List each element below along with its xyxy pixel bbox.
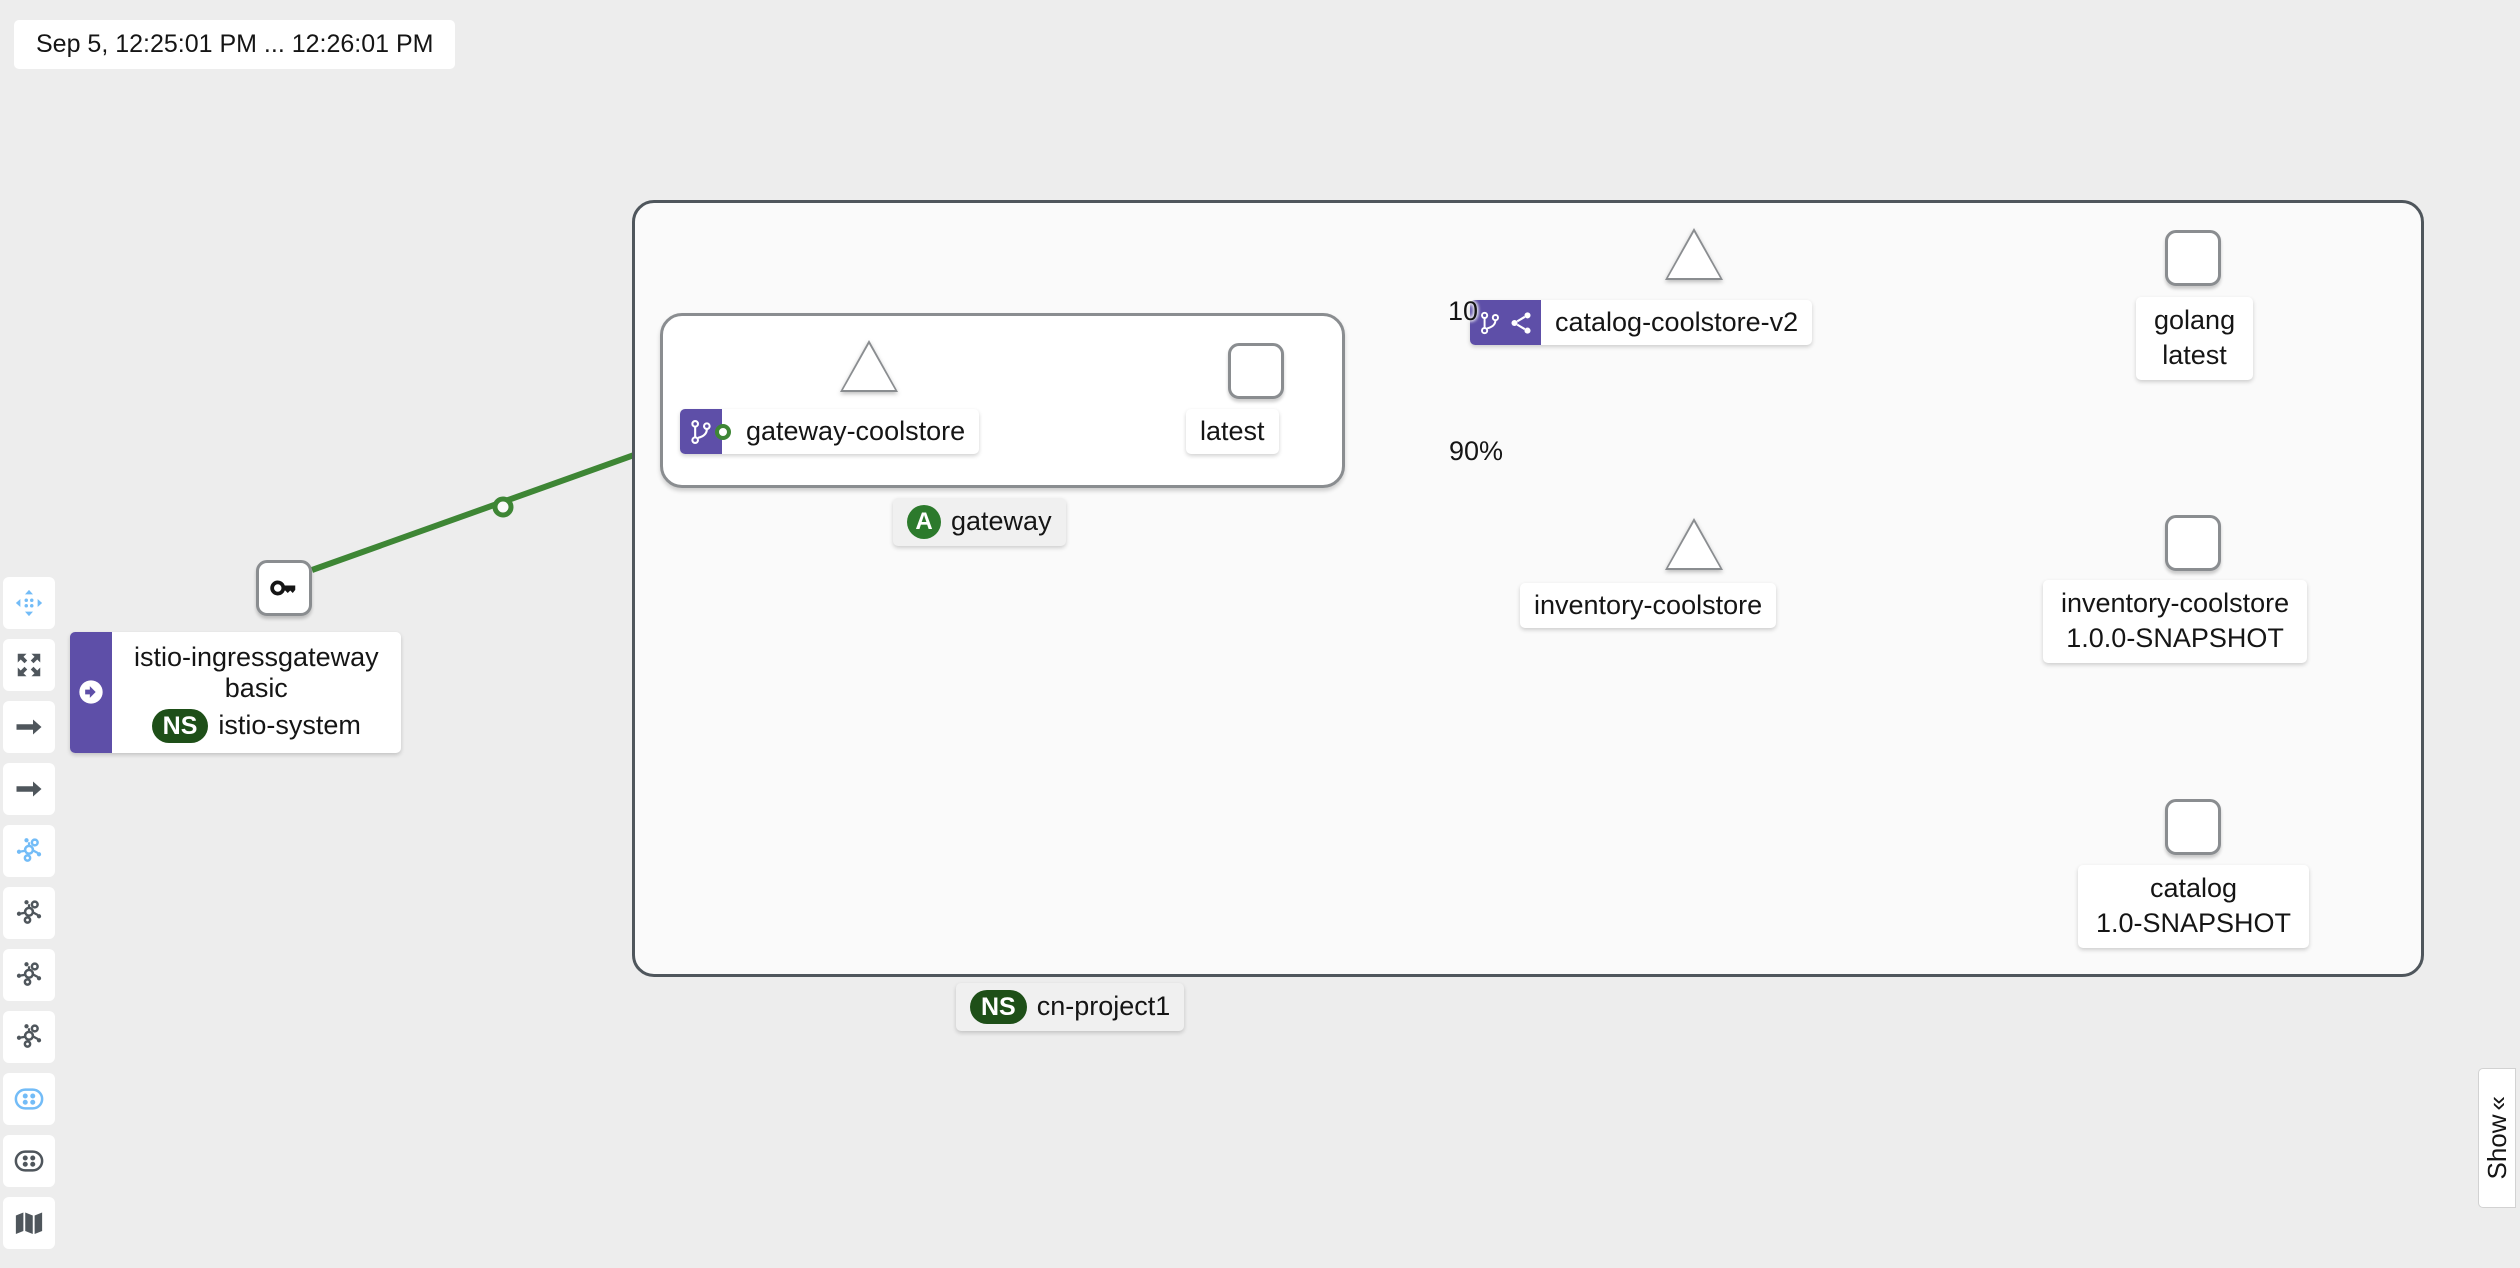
ingress-label-line1: istio-ingressgateway xyxy=(134,642,379,673)
node-shape-rect xyxy=(1228,343,1284,399)
expand-fullscreen-icon xyxy=(14,650,44,680)
namespace-name: cn-project1 xyxy=(1037,991,1171,1022)
catalog-coolstore-v2-name: catalog-coolstore-v2 xyxy=(1541,300,1812,345)
chevron-left-double-icon: « xyxy=(2482,1096,2513,1110)
node-label-catalog-coolstore-v2[interactable]: catalog-coolstore-v2 xyxy=(1470,300,1812,345)
app-group-label-gateway[interactable]: A gateway xyxy=(893,498,1066,546)
node-gateway-coolstore[interactable] xyxy=(840,340,898,392)
gateway-coolstore-name: gateway-coolstore xyxy=(722,409,979,454)
node-istio-ingressgateway[interactable] xyxy=(256,560,312,616)
ingress-ns-badge: NS xyxy=(152,709,209,743)
drag-pan-icon xyxy=(14,588,44,618)
catalog-snapshot-version: 1.0-SNAPSHOT xyxy=(2078,908,2309,947)
arrow-circle-right-icon xyxy=(77,678,105,706)
time-range-label: Sep 5, 12:25:01 PM ... 12:26:01 PM xyxy=(36,30,433,58)
show-drawer-content: Show « xyxy=(2482,1096,2513,1180)
node-inventory-coolstore[interactable] xyxy=(1665,518,1723,570)
gateway-latest-name: latest xyxy=(1186,409,1279,454)
catalog-snapshot-name: catalog xyxy=(2132,865,2255,908)
zoom-in-button[interactable] xyxy=(3,701,55,753)
inventory-snapshot-name: inventory-coolstore xyxy=(2043,580,2307,623)
node-shape-rect xyxy=(2165,515,2221,571)
show-label: Show xyxy=(2482,1115,2513,1180)
graph-layout-4-button[interactable] xyxy=(3,1011,55,1063)
gateway-coolstore-badges xyxy=(680,409,722,454)
graph-layout-4-icon xyxy=(14,1022,44,1052)
ingress-badge xyxy=(70,632,112,753)
arrow-right-icon xyxy=(14,712,44,742)
share-icon xyxy=(1508,310,1534,336)
namespace-layout-2-icon xyxy=(14,1146,44,1176)
kiali-graph-page: Sep 5, 12:25:01 PM ... 12:26:01 PM xyxy=(0,0,2520,1268)
app-box-gateway[interactable] xyxy=(660,313,1345,488)
legend-map-icon xyxy=(14,1208,44,1238)
show-side-panel-button[interactable]: Show « xyxy=(2478,1068,2516,1208)
node-label-golang-latest[interactable]: golang latest xyxy=(2136,297,2253,380)
namespace-layout-2-button[interactable] xyxy=(3,1135,55,1187)
graph-layout-1-icon xyxy=(14,836,44,866)
fit-to-screen-button[interactable] xyxy=(3,639,55,691)
graph-toolbar xyxy=(3,577,55,1259)
app-badge: A xyxy=(907,505,941,539)
namespace-layout-1-button[interactable] xyxy=(3,1073,55,1125)
arrow-right-alt-icon xyxy=(14,774,44,804)
catalog-coolstore-v2-badges xyxy=(1470,300,1541,345)
edge-endpoint-dot xyxy=(715,424,731,440)
graph-layout-2-icon xyxy=(14,898,44,928)
node-label-gateway-coolstore[interactable]: gateway-coolstore xyxy=(680,409,979,454)
graph-layout-3-button[interactable] xyxy=(3,949,55,1001)
edge-label-inventory-percent: 90% xyxy=(1449,436,1503,467)
node-catalog-snapshot[interactable] xyxy=(2165,799,2221,855)
graph-layout-2-button[interactable] xyxy=(3,887,55,939)
legend-button[interactable] xyxy=(3,1197,55,1249)
inventory-coolstore-name: inventory-coolstore xyxy=(1520,583,1776,628)
ingress-label-line2: basic xyxy=(134,673,379,704)
node-label-inventory-coolstore[interactable]: inventory-coolstore xyxy=(1520,583,1776,628)
golang-name: golang xyxy=(2136,297,2253,340)
node-shape-rect xyxy=(2165,230,2221,286)
namespace-badge: NS xyxy=(970,990,1027,1024)
key-icon xyxy=(269,573,299,603)
node-label-inventory-snapshot[interactable]: inventory-coolstore 1.0.0-SNAPSHOT xyxy=(2043,580,2307,663)
graph-layout-1-button[interactable] xyxy=(3,825,55,877)
node-golang-latest[interactable] xyxy=(2165,230,2221,286)
workload-icon xyxy=(687,418,715,446)
inventory-snapshot-version: 1.0.0-SNAPSHOT xyxy=(2048,623,2302,662)
node-catalog-coolstore-v2[interactable] xyxy=(1665,228,1723,280)
namespace-label-cn-project1[interactable]: NS cn-project1 xyxy=(956,983,1184,1031)
node-label-catalog-snapshot[interactable]: catalog 1.0-SNAPSHOT xyxy=(2078,865,2309,948)
node-shape-triangle xyxy=(1668,232,1720,278)
node-inventory-snapshot[interactable] xyxy=(2165,515,2221,571)
zoom-out-button[interactable] xyxy=(3,763,55,815)
graph-layout-3-icon xyxy=(14,960,44,990)
node-gateway-latest[interactable] xyxy=(1228,343,1284,399)
ingress-ns-name: istio-system xyxy=(218,710,361,741)
node-shape-rect xyxy=(2165,799,2221,855)
time-range-chip[interactable]: Sep 5, 12:25:01 PM ... 12:26:01 PM xyxy=(14,20,455,69)
node-shape-rect xyxy=(256,560,312,616)
drag-pan-button[interactable] xyxy=(3,577,55,629)
namespace-layout-1-icon xyxy=(14,1084,44,1114)
golang-version: latest xyxy=(2144,340,2245,379)
node-shape-triangle xyxy=(1668,522,1720,568)
node-label-istio-ingressgateway[interactable]: istio-ingressgateway basic NS istio-syst… xyxy=(70,632,401,753)
node-label-gateway-latest[interactable]: latest xyxy=(1186,409,1279,454)
edge-label-catalog-percent: 10 xyxy=(1448,296,1478,327)
node-shape-triangle xyxy=(843,344,895,390)
workload-icon xyxy=(1477,310,1503,336)
app-group-name: gateway xyxy=(951,506,1052,537)
